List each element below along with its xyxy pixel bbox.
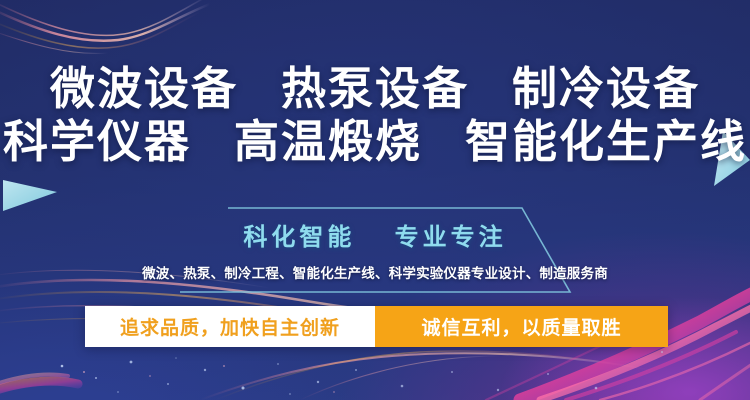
headline-block: 微波设备 热泵设备 制冷设备 科学仪器 高温煅烧 智能化生产线 — [0, 62, 750, 168]
slogan-right-button[interactable]: 诚信互利，以质量取胜 — [375, 306, 668, 347]
subhead-line: 科化智能 专业专注 — [0, 223, 750, 253]
headline-l2-item-2: 高温煅烧 — [234, 116, 422, 167]
headline-l1-item-1: 微波设备 — [50, 63, 238, 114]
headline-l2-item-3: 智能化生产线 — [465, 116, 747, 167]
service-description: 微波、热泵、制冷工程、智能化生产线、科学实验仪器专业设计、制造服务商 — [0, 265, 750, 282]
subhead-frame-block: 科化智能 专业专注 微波、热泵、制冷工程、智能化生产线、科学实验仪器专业设计、制… — [0, 205, 750, 297]
headline-l1-item-3: 制冷设备 — [512, 63, 700, 114]
slogan-bar: 追求品质，加快自主创新 诚信互利，以质量取胜 — [85, 306, 668, 347]
subhead-left: 科化智能 — [243, 224, 355, 251]
subhead-right: 专业专注 — [395, 224, 507, 251]
headline-line-2: 科学仪器 高温煅烧 智能化生产线 — [0, 115, 750, 168]
headline-l2-item-1: 科学仪器 — [3, 116, 191, 167]
headline-line-1: 微波设备 热泵设备 制冷设备 — [0, 62, 750, 115]
headline-l1-item-2: 热泵设备 — [281, 63, 469, 114]
promo-banner: 微波设备 热泵设备 制冷设备 科学仪器 高温煅烧 智能化生产线 科化智能 专业专… — [0, 0, 750, 400]
slogan-left-button[interactable]: 追求品质，加快自主创新 — [85, 306, 375, 347]
